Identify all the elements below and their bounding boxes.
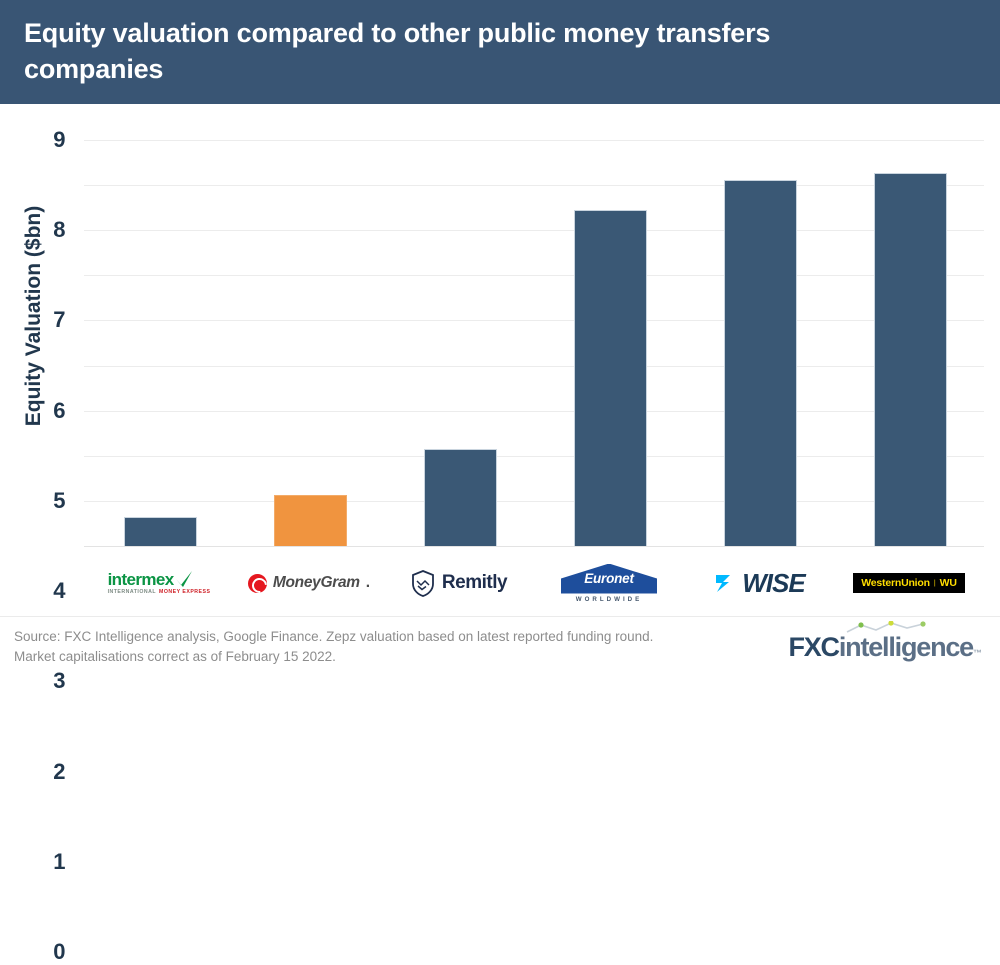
- plot-area: 0123456789: [84, 140, 984, 546]
- intermex-tagline-primary: INTERNATIONAL: [108, 590, 156, 595]
- x-axis-logo-remitly[interactable]: Remitly: [384, 560, 534, 606]
- bar-series: [84, 140, 984, 546]
- intermex-swoosh-icon: [175, 571, 193, 588]
- y-axis-label: Equity Valuation ($bn): [22, 186, 46, 446]
- bar-intermex[interactable]: [124, 517, 197, 546]
- x-axis-logo-wise[interactable]: WISE: [684, 560, 834, 606]
- y-tick-label-2: 2: [53, 759, 65, 785]
- y-tick-label-0: 0: [53, 939, 65, 965]
- intermex-wordmark: intermex: [108, 571, 174, 588]
- page-title: Equity valuation compared to other publi…: [24, 16, 884, 87]
- bar-remitly[interactable]: [424, 449, 497, 546]
- y-tick-label-1: 1: [53, 849, 65, 875]
- euronet-wordmark: Euronet: [584, 571, 634, 586]
- header-band: Equity valuation compared to other publi…: [0, 0, 1000, 104]
- fxc-logo-trademark: ™: [973, 648, 982, 658]
- euronet-logo: Euronet WORLDWIDE: [561, 564, 657, 603]
- source-line-1: Source: FXC Intelligence analysis, Googl…: [14, 627, 754, 647]
- y-tick-label-4: 4: [53, 578, 65, 604]
- x-axis-logo-western-union[interactable]: WesternUnion | WU: [834, 560, 984, 606]
- fxc-logo-primary: FXC: [788, 632, 838, 663]
- source-note: Source: FXC Intelligence analysis, Googl…: [14, 627, 754, 667]
- x-axis-logo-row: intermex INTERNATIONAL MONEY EXPRESS Mon…: [84, 560, 984, 606]
- fxc-logo-secondary: intelligence: [839, 632, 973, 663]
- chart-area: Equity Valuation ($bn) 0123456789 interm…: [0, 104, 1000, 616]
- wise-wordmark: WISE: [742, 568, 804, 599]
- euronet-diamond-icon: Euronet: [561, 564, 657, 594]
- source-line-2: Market capitalisations correct as of Feb…: [14, 647, 754, 667]
- y-tick-label-6: 6: [53, 398, 65, 424]
- moneygram-swirl-icon: [248, 574, 267, 593]
- y-tick-label-7: 7: [53, 307, 65, 333]
- bar-western-union[interactable]: [874, 173, 947, 546]
- bar-euronet-worldwide[interactable]: [574, 210, 647, 546]
- moneygram-logo: MoneyGram .: [248, 574, 370, 593]
- remitly-wordmark: Remitly: [442, 572, 507, 594]
- y-tick-label-3: 3: [53, 668, 65, 694]
- western-union-wordmark: WesternUnion: [861, 577, 930, 589]
- x-axis-logo-euronet[interactable]: Euronet WORLDWIDE: [534, 560, 684, 606]
- footer: Source: FXC Intelligence analysis, Googl…: [0, 616, 1000, 672]
- gridline-0: 0: [84, 546, 984, 547]
- x-axis-logo-moneygram[interactable]: MoneyGram .: [234, 560, 384, 606]
- moneygram-wordmark: MoneyGram: [273, 574, 360, 592]
- moneygram-period: .: [366, 574, 370, 592]
- y-tick-label-9: 9: [53, 127, 65, 153]
- y-tick-label-8: 8: [53, 217, 65, 243]
- western-union-separator: |: [934, 580, 936, 587]
- intermex-tagline-secondary: MONEY EXPRESS: [159, 590, 210, 595]
- remitly-shield-icon: [411, 570, 435, 597]
- x-axis-logo-intermex[interactable]: intermex INTERNATIONAL MONEY EXPRESS: [84, 560, 234, 606]
- bar-wise[interactable]: [724, 180, 797, 546]
- chart-page: Equity valuation compared to other publi…: [0, 0, 1000, 671]
- y-tick-label-5: 5: [53, 488, 65, 514]
- euronet-tagline: WORLDWIDE: [576, 596, 643, 603]
- fxc-logo-secondary-text: intelligence: [839, 632, 973, 662]
- western-union-initials: WU: [940, 577, 957, 589]
- remitly-logo: Remitly: [411, 570, 507, 597]
- western-union-logo: WesternUnion | WU: [853, 573, 965, 593]
- wise-logo: WISE: [713, 568, 804, 599]
- fxc-intelligence-logo: FXC intelligence ™: [788, 632, 982, 663]
- sparkline-icon: [845, 621, 931, 636]
- bar-moneygram[interactable]: [274, 495, 347, 546]
- intermex-logo: intermex INTERNATIONAL MONEY EXPRESS: [108, 571, 211, 595]
- wise-arrow-icon: [713, 571, 737, 595]
